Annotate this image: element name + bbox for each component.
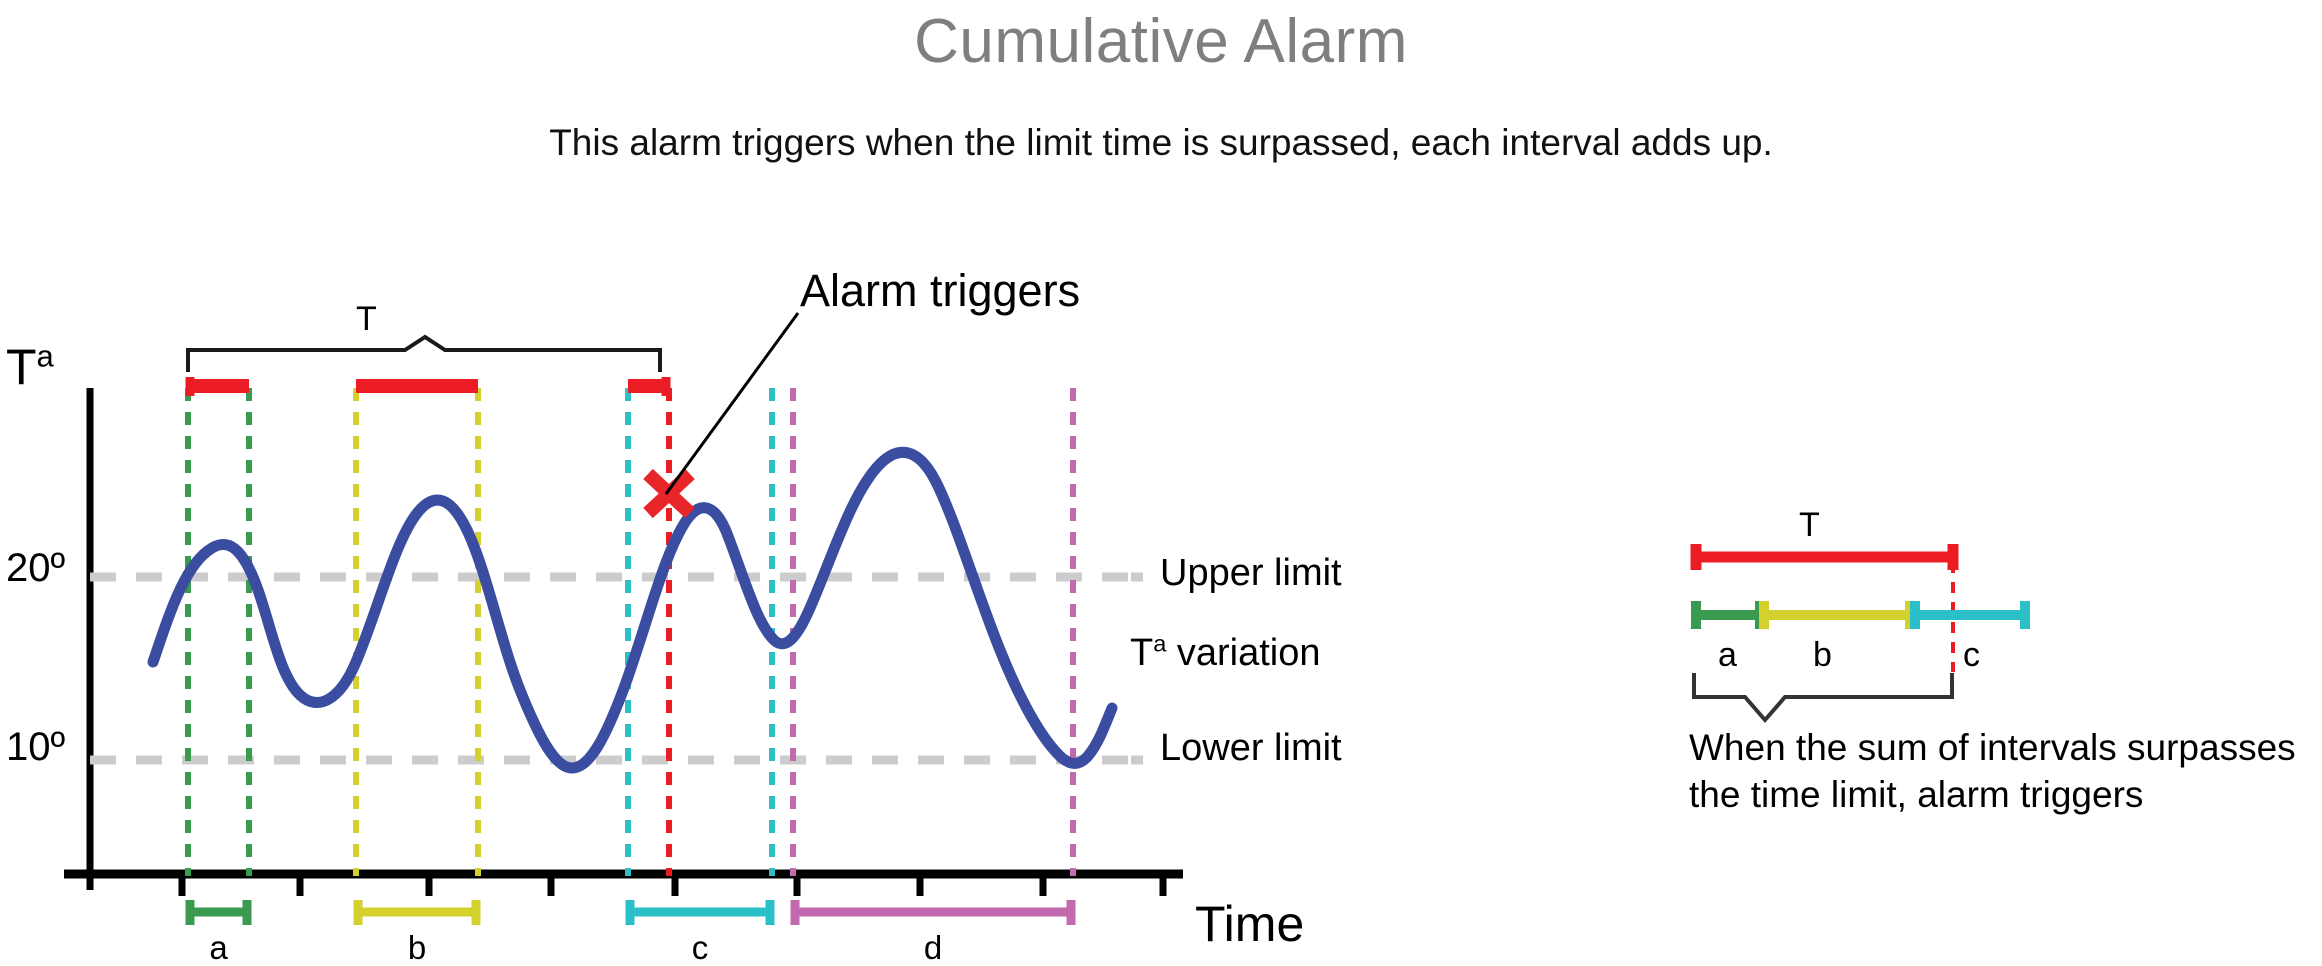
- right-limit-bar-label: T: [1799, 506, 1820, 545]
- right-sum-brace: [1694, 673, 1952, 720]
- right-segment-c: [1912, 601, 2027, 629]
- right-segment-label-b: b: [1813, 636, 1832, 675]
- right-limit-bar: [1694, 544, 1955, 570]
- right-panel-caption-line2: the time limit, alarm triggers: [1689, 771, 2322, 818]
- right-panel-caption-line1: When the sum of intervals surpasses: [1689, 724, 2322, 771]
- right-segment-b: [1762, 601, 1912, 629]
- right-segment-label-a: a: [1718, 636, 1737, 675]
- right-panel-caption: When the sum of intervals surpasses the …: [1689, 724, 2322, 818]
- right-segment-a: [1694, 601, 1762, 629]
- right-segment-label-c: c: [1963, 636, 1980, 675]
